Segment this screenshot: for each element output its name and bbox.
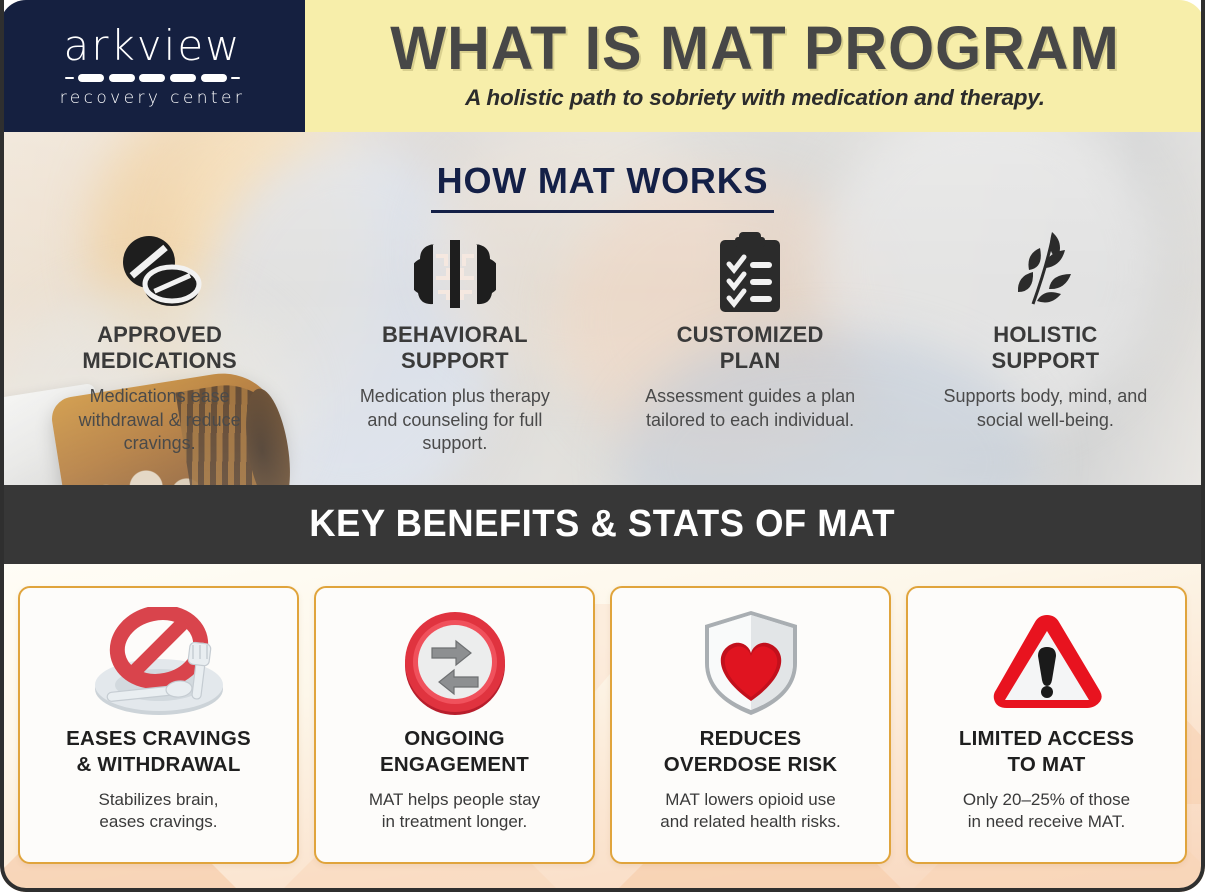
- how-column-title: HOLISTIC SUPPORT: [992, 322, 1100, 373]
- benefit-card-desc: MAT helps people stay in treatment longe…: [369, 789, 540, 833]
- how-column-desc: Assessment guides a plan tailored to eac…: [643, 385, 858, 432]
- how-column-title: BEHAVIORAL SUPPORT: [382, 322, 528, 373]
- benefit-card-eases-cravings: EASES CRAVINGS & WITHDRAWAL Stabilizes b…: [18, 586, 299, 864]
- infographic-poster: arkview recovery center WHAT IS MAT PROG…: [0, 0, 1205, 892]
- benefit-card-desc: MAT lowers opioid use and related health…: [660, 789, 841, 833]
- how-mat-works-heading: HOW MAT WORKS: [431, 160, 775, 213]
- key-benefits-banner: KEY BENEFITS & STATS OF MAT: [0, 485, 1205, 564]
- logo-divider-dashes: [65, 74, 241, 83]
- pills-icon: [118, 230, 202, 314]
- how-mat-works-section: HOW MAT WORKS APPROVED MEDICATIONS: [0, 132, 1205, 485]
- benefit-card-desc: Only 20–25% of those in need receive MAT…: [963, 789, 1130, 833]
- key-benefits-banner-title: KEY BENEFITS & STATS OF MAT: [310, 503, 896, 546]
- how-mat-works-heading-wrap: HOW MAT WORKS: [0, 160, 1205, 213]
- header-title-block: WHAT IS MAT PROGRAM A holistic path to s…: [305, 0, 1205, 132]
- benefit-card-title: REDUCES OVERDOSE RISK: [664, 726, 837, 778]
- how-column-desc: Medications ease withdrawal & reduce cra…: [52, 385, 267, 455]
- benefits-section: EASES CRAVINGS & WITHDRAWAL Stabilizes b…: [0, 564, 1205, 892]
- how-mat-works-columns: APPROVED MEDICATIONS Medications ease wi…: [0, 230, 1205, 480]
- header: arkview recovery center WHAT IS MAT PROG…: [0, 0, 1205, 132]
- benefit-card-title: EASES CRAVINGS & WITHDRAWAL: [66, 726, 251, 778]
- two-way-arrows-icon: [399, 604, 511, 722]
- benefit-card-title: LIMITED ACCESS TO MAT: [959, 726, 1134, 778]
- benefit-card-title: ONGOING ENGAGEMENT: [380, 726, 529, 778]
- page-title: WHAT IS MAT PROGRAM: [390, 17, 1119, 79]
- brand-tagline: recovery center: [60, 88, 246, 108]
- benefit-card-ongoing-engagement: ONGOING ENGAGEMENT MAT helps people stay…: [314, 586, 595, 864]
- brain-icon: [414, 230, 496, 314]
- benefit-card-desc: Stabilizes brain, eases cravings.: [98, 789, 218, 833]
- clipboard-checklist-icon: [714, 230, 786, 314]
- how-column-desc: Medication plus therapy and counseling f…: [347, 385, 562, 455]
- how-column-customized-plan: CUSTOMIZED PLAN Assessment guides a plan…: [603, 230, 898, 480]
- benefit-cards: EASES CRAVINGS & WITHDRAWAL Stabilizes b…: [0, 564, 1205, 892]
- heart-shield-icon: [697, 604, 805, 722]
- benefit-card-limited-access: LIMITED ACCESS TO MAT Only 20–25% of tho…: [906, 586, 1187, 864]
- how-column-title: APPROVED MEDICATIONS: [82, 322, 237, 373]
- brand-name: arkview: [63, 25, 241, 67]
- how-column-holistic-support: HOLISTIC SUPPORT Supports body, mind, an…: [898, 230, 1193, 480]
- no-craving-plate-icon: [83, 604, 235, 722]
- how-column-approved-medications: APPROVED MEDICATIONS Medications ease wi…: [12, 230, 307, 480]
- leaf-branch-icon: [1005, 230, 1085, 314]
- how-column-title: CUSTOMIZED PLAN: [677, 322, 824, 373]
- brand-logo: arkview recovery center: [0, 0, 305, 132]
- benefit-card-reduces-overdose-risk: REDUCES OVERDOSE RISK MAT lowers opioid …: [610, 586, 891, 864]
- warning-triangle-icon: [988, 604, 1106, 722]
- page-subtitle: A holistic path to sobriety with medicat…: [465, 85, 1045, 111]
- how-column-behavioral-support: BEHAVIORAL SUPPORT Medication plus thera…: [307, 230, 602, 480]
- how-column-desc: Supports body, mind, and social well-bei…: [938, 385, 1153, 432]
